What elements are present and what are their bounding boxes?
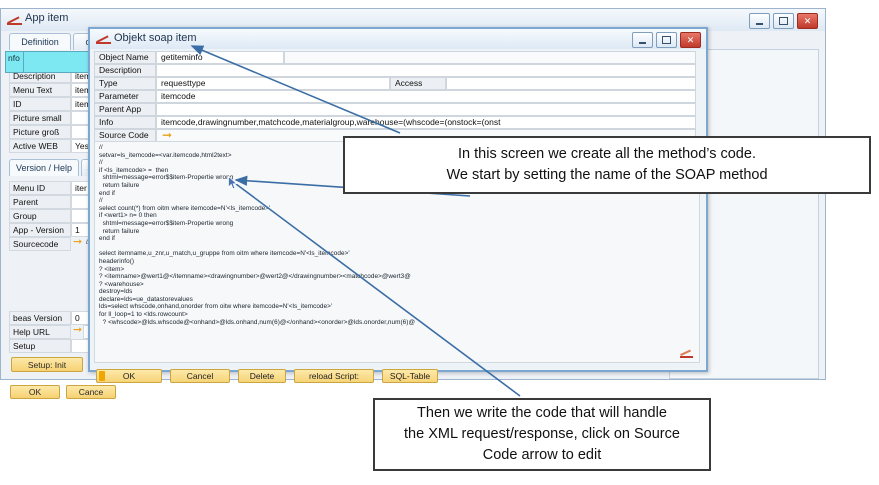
soap-dialog-titlebar: Objekt soap item ✕ <box>90 29 706 49</box>
field-menu-id-label: Menu ID <box>9 181 71 195</box>
background-ok-button[interactable]: OK <box>10 385 60 399</box>
dialog-sql-table-label: SQL-Table <box>390 371 430 381</box>
vendor-logo-icon <box>680 349 693 358</box>
dialog-minimize-icon[interactable] <box>632 32 653 48</box>
access-input[interactable] <box>446 77 696 90</box>
field-id-label: ID <box>9 97 71 111</box>
dialog-reload-script-label: reload Script: <box>309 371 359 381</box>
parameter-input[interactable]: itemcode <box>156 90 696 103</box>
dialog-button-bar: OK Cancel Delete reload Script: SQL-Tabl… <box>96 369 438 383</box>
dialog-field-info: Info itemcode,drawingnumber,matchcode,ma… <box>94 116 696 129</box>
dialog-field-description-label: Description <box>94 64 156 77</box>
dialog-ok-button[interactable]: OK <box>96 369 162 383</box>
field-active-web-label: Active WEB <box>9 139 71 153</box>
callout-top: In this screen we create all the method’… <box>343 136 871 194</box>
callout-bottom: Then we write the code that will handle … <box>373 398 711 471</box>
tab-version-help[interactable]: Version / Help <box>9 159 79 176</box>
soap-dialog-window-controls: ✕ <box>632 32 701 48</box>
mouse-cursor-icon <box>228 176 238 190</box>
field-picture-small-label: Picture small <box>9 111 71 125</box>
soap-dialog-title: Objekt soap item <box>114 32 197 44</box>
request-highlight-left: nfo <box>5 51 25 73</box>
dialog-sql-table-button[interactable]: SQL-Table <box>382 369 438 383</box>
setup-init-button[interactable]: Setup: Init <box>11 357 83 372</box>
info-input[interactable]: itemcode,drawingnumber,matchcode,materia… <box>156 116 696 129</box>
field-beas-version-label: beas Version <box>9 311 71 325</box>
parent-app-select[interactable] <box>156 103 696 116</box>
close-icon[interactable]: ✕ <box>797 13 818 29</box>
dialog-cancel-label: Cancel <box>187 371 213 381</box>
field-menu-text-label: Menu Text <box>9 83 71 97</box>
callout-bottom-text: Then we write the code that will handle … <box>404 403 680 466</box>
dialog-delete-label: Delete <box>250 371 275 381</box>
field-picture-large-label: Picture groß <box>9 125 71 139</box>
dialog-field-parameter: Parameter itemcode <box>94 90 696 103</box>
dialog-field-parent-app: Parent App <box>94 103 696 116</box>
tab-definition-label: Definition <box>21 37 59 47</box>
field-sourcecode-label: Sourcecode <box>9 237 71 251</box>
description-input[interactable] <box>156 64 696 77</box>
background-ok-label: OK <box>29 387 41 397</box>
dialog-field-object-name-label: Object Name <box>94 51 156 64</box>
dialog-field-object-name: Object Name getiteminfo <box>94 51 696 64</box>
arrow-right-icon[interactable]: ➞ <box>73 237 82 248</box>
background-cancel-label: Cance <box>79 387 104 397</box>
background-window-controls: ✕ <box>749 13 818 29</box>
soap-object-dialog: Objekt soap item ✕ Object Name getitemin… <box>88 27 708 372</box>
dialog-logo-icon <box>96 34 111 44</box>
minimize-icon[interactable] <box>749 13 770 29</box>
app-logo-icon <box>7 15 22 25</box>
tab-version-help-label: Version / Help <box>16 163 72 173</box>
dialog-field-type-label: Type <box>94 77 156 90</box>
field-help-url-label: Help URL <box>9 325 71 339</box>
object-name-input[interactable]: getiteminfo <box>156 51 284 64</box>
object-name-filler <box>284 51 696 64</box>
field-parent-label: Parent <box>9 195 71 209</box>
dialog-reload-script-button[interactable]: reload Script: <box>294 369 374 383</box>
field-setup-label: Setup <box>9 339 71 353</box>
dialog-field-parameter-label: Parameter <box>94 90 156 103</box>
field-app-version-label: App - Version <box>9 223 71 237</box>
dialog-field-type: Type requesttype Access <box>94 77 696 90</box>
field-group-label: Group <box>9 209 71 223</box>
dialog-ok-label: OK <box>123 371 135 381</box>
tab-definition[interactable]: Definition <box>9 33 71 50</box>
setup-init-label: Setup: Init <box>28 360 66 370</box>
background-window-title: App item <box>25 12 68 24</box>
arrow-right-icon[interactable]: ➞ <box>162 129 172 141</box>
dialog-close-icon[interactable]: ✕ <box>680 32 701 48</box>
dialog-field-info-label: Info <box>94 116 156 129</box>
help-url-arrow-icon[interactable]: ➞ <box>73 325 82 336</box>
ok-accent-chip <box>99 371 105 381</box>
maximize-icon[interactable] <box>773 13 794 29</box>
dialog-maximize-icon[interactable] <box>656 32 677 48</box>
background-cancel-button[interactable]: Cance <box>66 385 116 399</box>
callout-top-text: In this screen we create all the method’… <box>446 144 767 186</box>
dialog-field-parent-app-label: Parent App <box>94 103 156 116</box>
type-input[interactable]: requesttype <box>156 77 390 90</box>
dialog-field-description: Description <box>94 64 696 77</box>
access-label: Access <box>390 77 446 90</box>
dialog-delete-button[interactable]: Delete <box>238 369 286 383</box>
request-highlight-left-label: nfo <box>8 53 20 63</box>
dialog-cancel-button[interactable]: Cancel <box>170 369 230 383</box>
